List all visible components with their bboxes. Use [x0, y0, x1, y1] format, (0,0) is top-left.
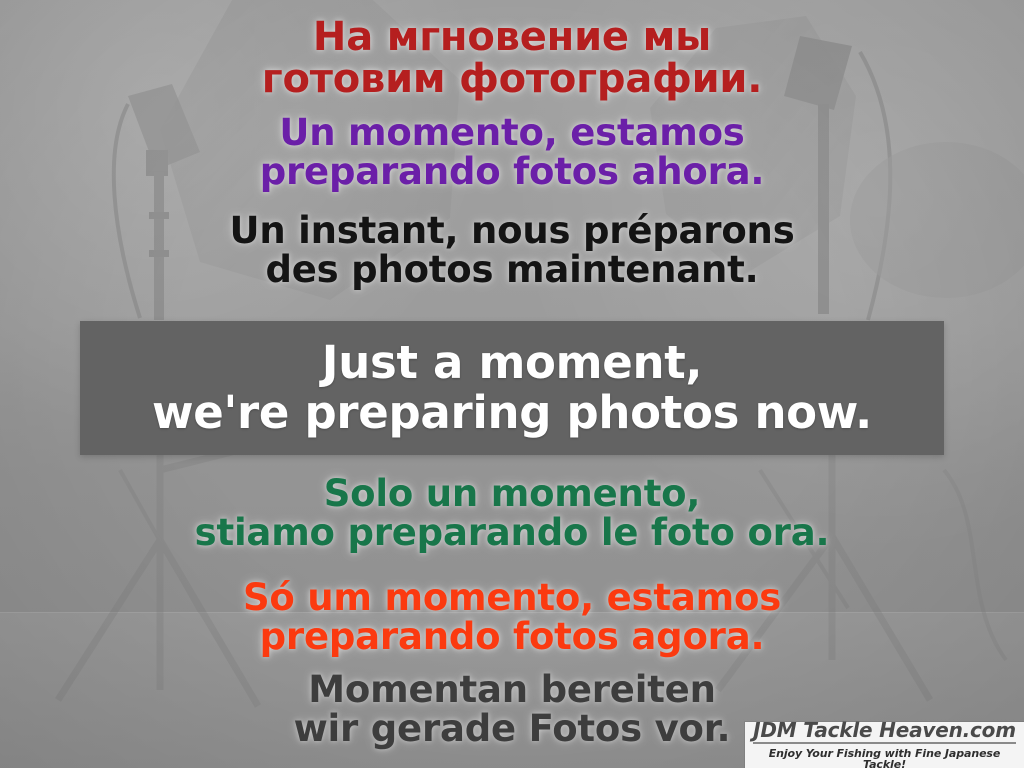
brand-name: JDM Tackle Heaven.com [753, 720, 1016, 744]
brand-tagline: Enjoy Your Fishing with Fine Japanese Ta… [753, 744, 1016, 768]
placeholder-image: На мгновение мы готовим фотографии. Un m… [0, 0, 1024, 768]
message-french: Un instant, nous préparons des photos ma… [0, 211, 1024, 289]
message-english: Just a moment, we're preparing photos no… [80, 338, 944, 439]
message-italian: Solo un momento, stiamo preparando le fo… [0, 474, 1024, 552]
message-russian: На мгновение мы готовим фотографии. [0, 16, 1024, 101]
message-spanish: Un momento, estamos preparando fotos aho… [0, 113, 1024, 191]
message-portuguese: Só um momento, estamos preparando fotos … [0, 578, 1024, 656]
brand-watermark-logo: JDM Tackle Heaven.com Enjoy Your Fishing… [745, 722, 1024, 768]
primary-message-banner: Just a moment, we're preparing photos no… [80, 321, 944, 455]
